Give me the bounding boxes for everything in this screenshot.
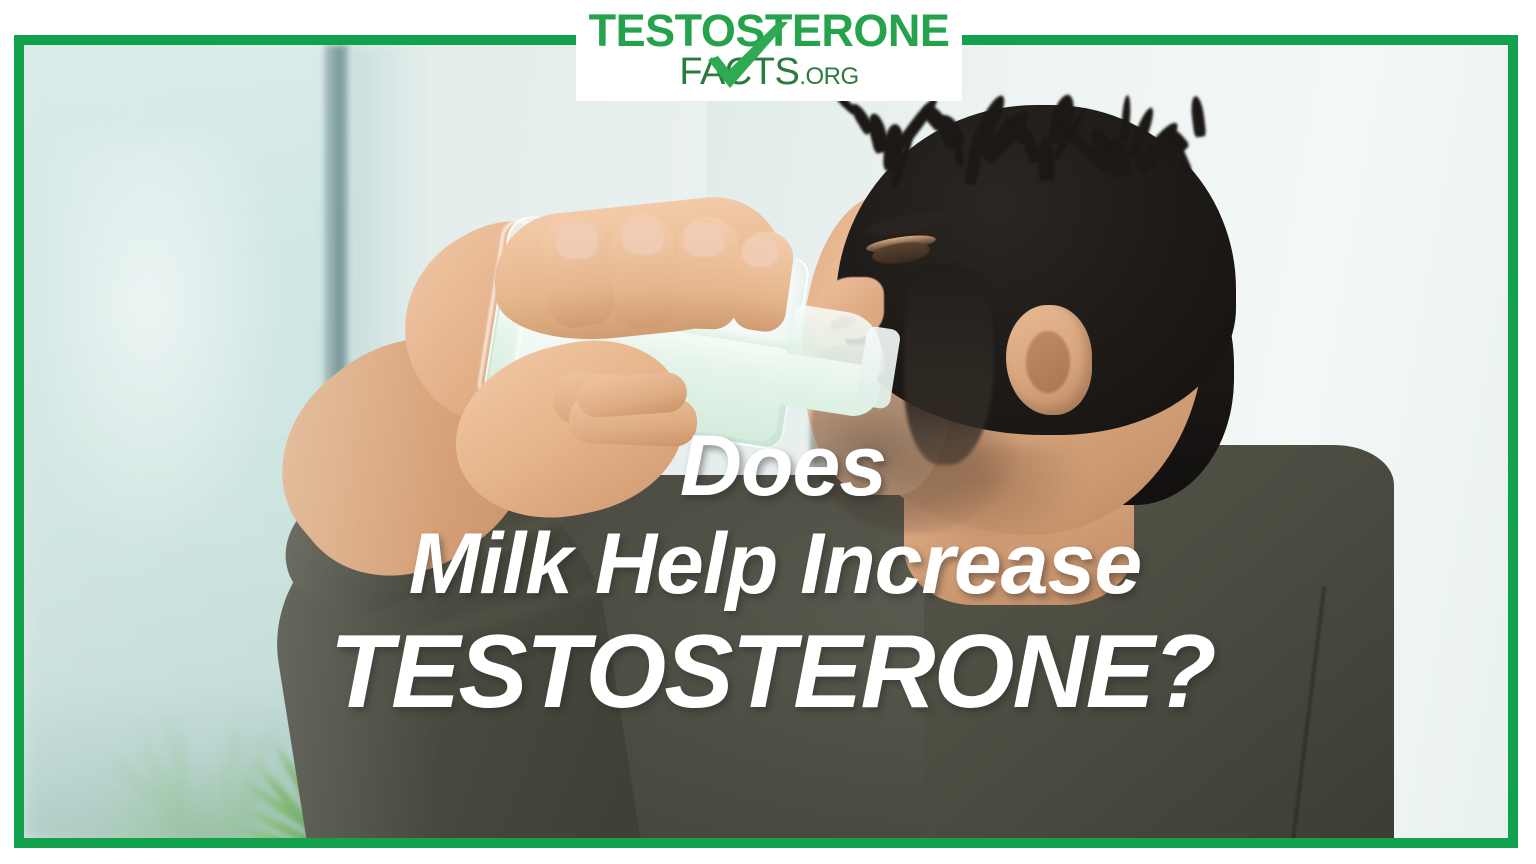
sideburn (904, 265, 994, 465)
poster-canvas: Does Milk Help Increase TESTOSTERONE? TE… (0, 0, 1536, 864)
site-logo[interactable]: TESTOSTERONE FACTS.ORG (576, 0, 962, 101)
ear-inner (1026, 331, 1070, 393)
fingernail-2 (622, 219, 664, 255)
fingernail-3 (684, 223, 724, 257)
hero-photo (24, 45, 1508, 838)
man-subject (24, 45, 1508, 838)
finger-lower-3 (576, 371, 689, 419)
fingernail-4 (742, 237, 778, 267)
fingernail-1 (556, 223, 598, 259)
jaw-shadow (884, 445, 1084, 555)
checkmark-icon (704, 20, 794, 94)
logo-org-text: .ORG (799, 63, 858, 90)
